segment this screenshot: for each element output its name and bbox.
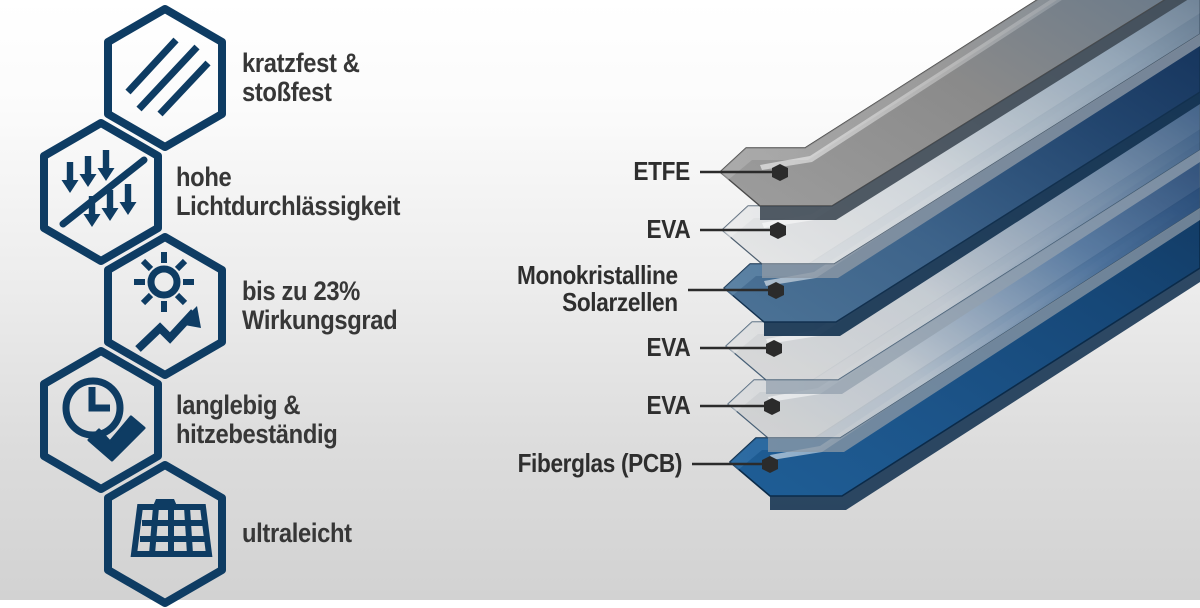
- feature-item-ultralight[interactable]: ultraleicht: [98, 460, 367, 608]
- layer-label-eva-mid: EVA: [646, 334, 690, 360]
- layer-label-monokristalline-solarzellen: Monokristalline Solarzellen: [517, 262, 678, 316]
- solar-panel-icon: [98, 460, 232, 608]
- feature-list: kratzfest & stoßfest: [0, 0, 470, 600]
- layer-stack-diagram: ETFE EVA Monokristalline Solarzellen EVA…: [470, 0, 1200, 600]
- feature-label: langlebig & hitzebeständig: [176, 391, 337, 449]
- infographic-stage: kratzfest & stoßfest: [0, 0, 1200, 600]
- feature-label: bis zu 23% Wirkungsgrad: [242, 277, 397, 335]
- layer-label-eva-top: EVA: [646, 216, 690, 242]
- feature-label: kratzfest & stoßfest: [242, 49, 360, 107]
- layer-label-etfe: ETFE: [634, 158, 690, 184]
- layer-label-eva-low: EVA: [646, 392, 690, 418]
- layer-label-fiberglas-pcb: Fiberglas (PCB): [518, 450, 682, 476]
- feature-label: hohe Lichtdurchlässigkeit: [176, 163, 400, 221]
- feature-label: ultraleicht: [242, 519, 352, 548]
